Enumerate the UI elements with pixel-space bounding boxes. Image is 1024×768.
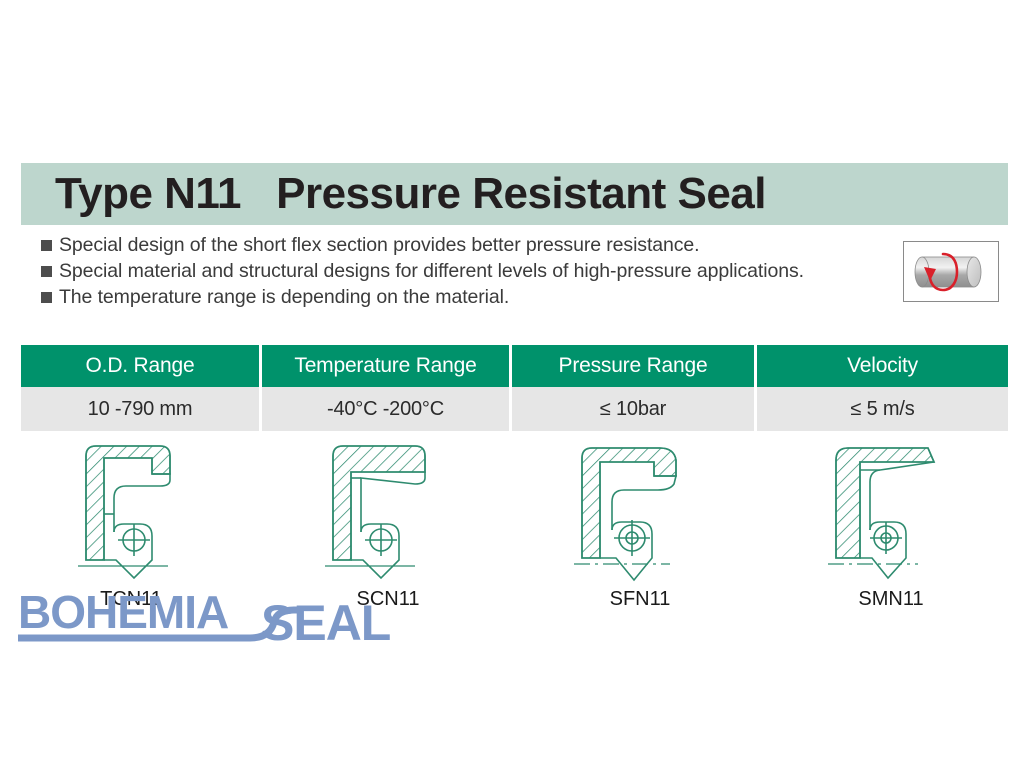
feature-list: Special design of the short flex section… [41, 233, 886, 311]
seal-cross-section-icon [806, 440, 956, 590]
rotating-shaft-icon-box [903, 241, 999, 302]
column-header-velocity: Velocity [757, 345, 1008, 387]
feature-text: Special design of the short flex section… [59, 233, 699, 258]
value-pressure-range: ≤ 10bar [512, 387, 757, 431]
rotating-shaft-icon [909, 247, 993, 297]
seal-label-tcn11: TCN11 [31, 588, 231, 611]
value-velocity: ≤ 5 m/s [757, 387, 1008, 431]
bullet-square-icon [41, 240, 52, 251]
seal-label-smn11: SMN11 [791, 588, 991, 611]
list-item: Special material and structural designs … [41, 259, 886, 284]
seal-cross-section-icon [303, 440, 453, 590]
value-temperature-range: -40°C -200°C [262, 387, 512, 431]
datasheet-page: Type N11 Pressure Resistant Seal Special… [0, 0, 1024, 768]
feature-text: Special material and structural designs … [59, 259, 804, 284]
column-header-od-range: O.D. Range [21, 345, 262, 387]
list-item: Special design of the short flex section… [41, 233, 886, 258]
bullet-square-icon [41, 266, 52, 277]
bullet-square-icon [41, 292, 52, 303]
feature-text: The temperature range is depending on th… [59, 285, 509, 310]
page-title: Type N11 Pressure Resistant Seal [21, 169, 766, 219]
seal-cross-section-icon [554, 440, 704, 590]
value-od-range: 10 -790 mm [21, 387, 262, 431]
seal-label-sfn11: SFN11 [540, 588, 740, 611]
seal-label-scn11: SCN11 [288, 588, 488, 611]
column-header-temperature-range: Temperature Range [262, 345, 512, 387]
seal-cross-section-icon [56, 440, 206, 590]
column-header-pressure-range: Pressure Range [512, 345, 757, 387]
specification-table: O.D. Range Temperature Range Pressure Ra… [21, 345, 1008, 431]
table-header-row: O.D. Range Temperature Range Pressure Ra… [21, 345, 1008, 387]
title-band: Type N11 Pressure Resistant Seal [21, 163, 1008, 225]
list-item: The temperature range is depending on th… [41, 285, 886, 310]
table-row: 10 -790 mm -40°C -200°C ≤ 10bar ≤ 5 m/s [21, 387, 1008, 431]
